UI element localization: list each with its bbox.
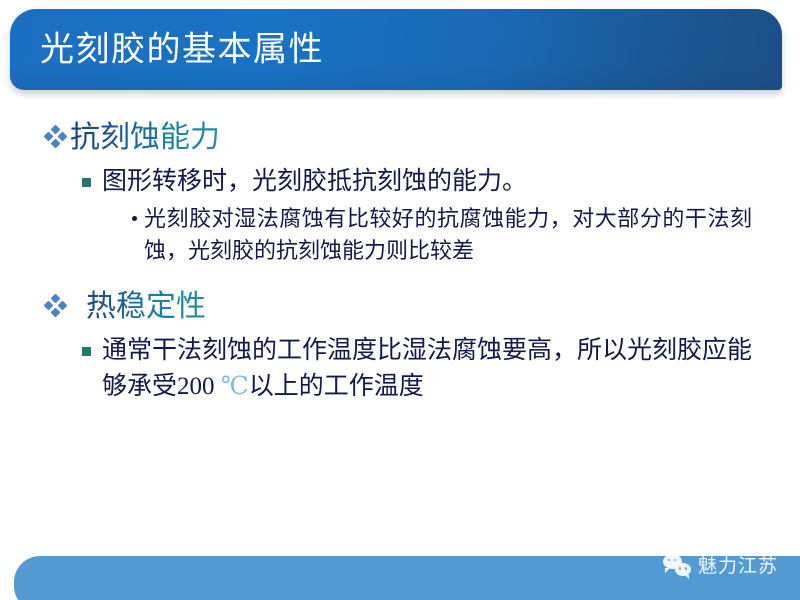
level2-body-text: 图形转移时，光刻胶抵抗刻蚀的能力。 xyxy=(102,164,527,200)
level3-bullet-item: 光刻胶对湿法腐蚀有比较好的抗腐蚀能力，对大部分的干法刻蚀，光刻胶的抗刻蚀能力则比… xyxy=(132,203,752,267)
wechat-icon xyxy=(663,554,691,576)
square-bullet-icon xyxy=(82,178,91,187)
dot-bullet-icon xyxy=(132,216,137,221)
slide-title-bar: 光刻胶的基本属性 xyxy=(10,9,782,90)
level2-body-text: 通常干法刻蚀的工作温度比湿法腐蚀要高，所以光刻胶应能够承受200 ℃以上的工作温… xyxy=(102,333,772,404)
level2-bullet-item: 通常干法刻蚀的工作温度比湿法腐蚀要高，所以光刻胶应能够承受200 ℃以上的工作温… xyxy=(82,333,772,404)
level2-bullet-item: 图形转移时，光刻胶抵抗刻蚀的能力。 xyxy=(82,164,772,200)
level1-bullet-item: 抗刻蚀能力 xyxy=(44,118,800,158)
level2-text-after-degree: 以上的工作温度 xyxy=(249,373,424,400)
level1-bullet-item: 热稳定性 xyxy=(44,287,800,327)
slide-canvas: 光刻胶的基本属性 抗刻蚀能力 图形转移时，光刻胶抵抗刻蚀的能力。 光刻胶对湿法腐… xyxy=(0,0,800,600)
diamond-cluster-bullet-icon xyxy=(44,295,70,325)
content-group-thermal-stability: 热稳定性 通常干法刻蚀的工作温度比湿法腐蚀要高，所以光刻胶应能够承受200 ℃以… xyxy=(0,287,800,404)
level1-heading-text: 热稳定性 xyxy=(70,287,206,327)
slide-body: 抗刻蚀能力 图形转移时，光刻胶抵抗刻蚀的能力。 光刻胶对湿法腐蚀有比较好的抗腐蚀… xyxy=(0,118,800,406)
level3-body-text: 光刻胶对湿法腐蚀有比较好的抗腐蚀能力，对大部分的干法刻蚀，光刻胶的抗刻蚀能力则比… xyxy=(144,203,752,267)
watermark: 魅力江苏 xyxy=(663,551,778,578)
diamond-cluster-bullet-icon xyxy=(44,126,70,156)
content-group-etch-resistance: 抗刻蚀能力 图形转移时，光刻胶抵抗刻蚀的能力。 光刻胶对湿法腐蚀有比较好的抗腐蚀… xyxy=(0,118,800,267)
page-title: 光刻胶的基本属性 xyxy=(40,32,324,66)
level1-heading-text: 抗刻蚀能力 xyxy=(70,118,220,158)
level2-text-before-degree: 通常干法刻蚀的工作温度比湿法腐蚀要高，所以光刻胶应能够承受200 xyxy=(102,337,752,400)
watermark-label: 魅力江苏 xyxy=(698,551,778,578)
degree-celsius-symbol: ℃ xyxy=(221,373,249,400)
square-bullet-icon xyxy=(82,347,91,356)
